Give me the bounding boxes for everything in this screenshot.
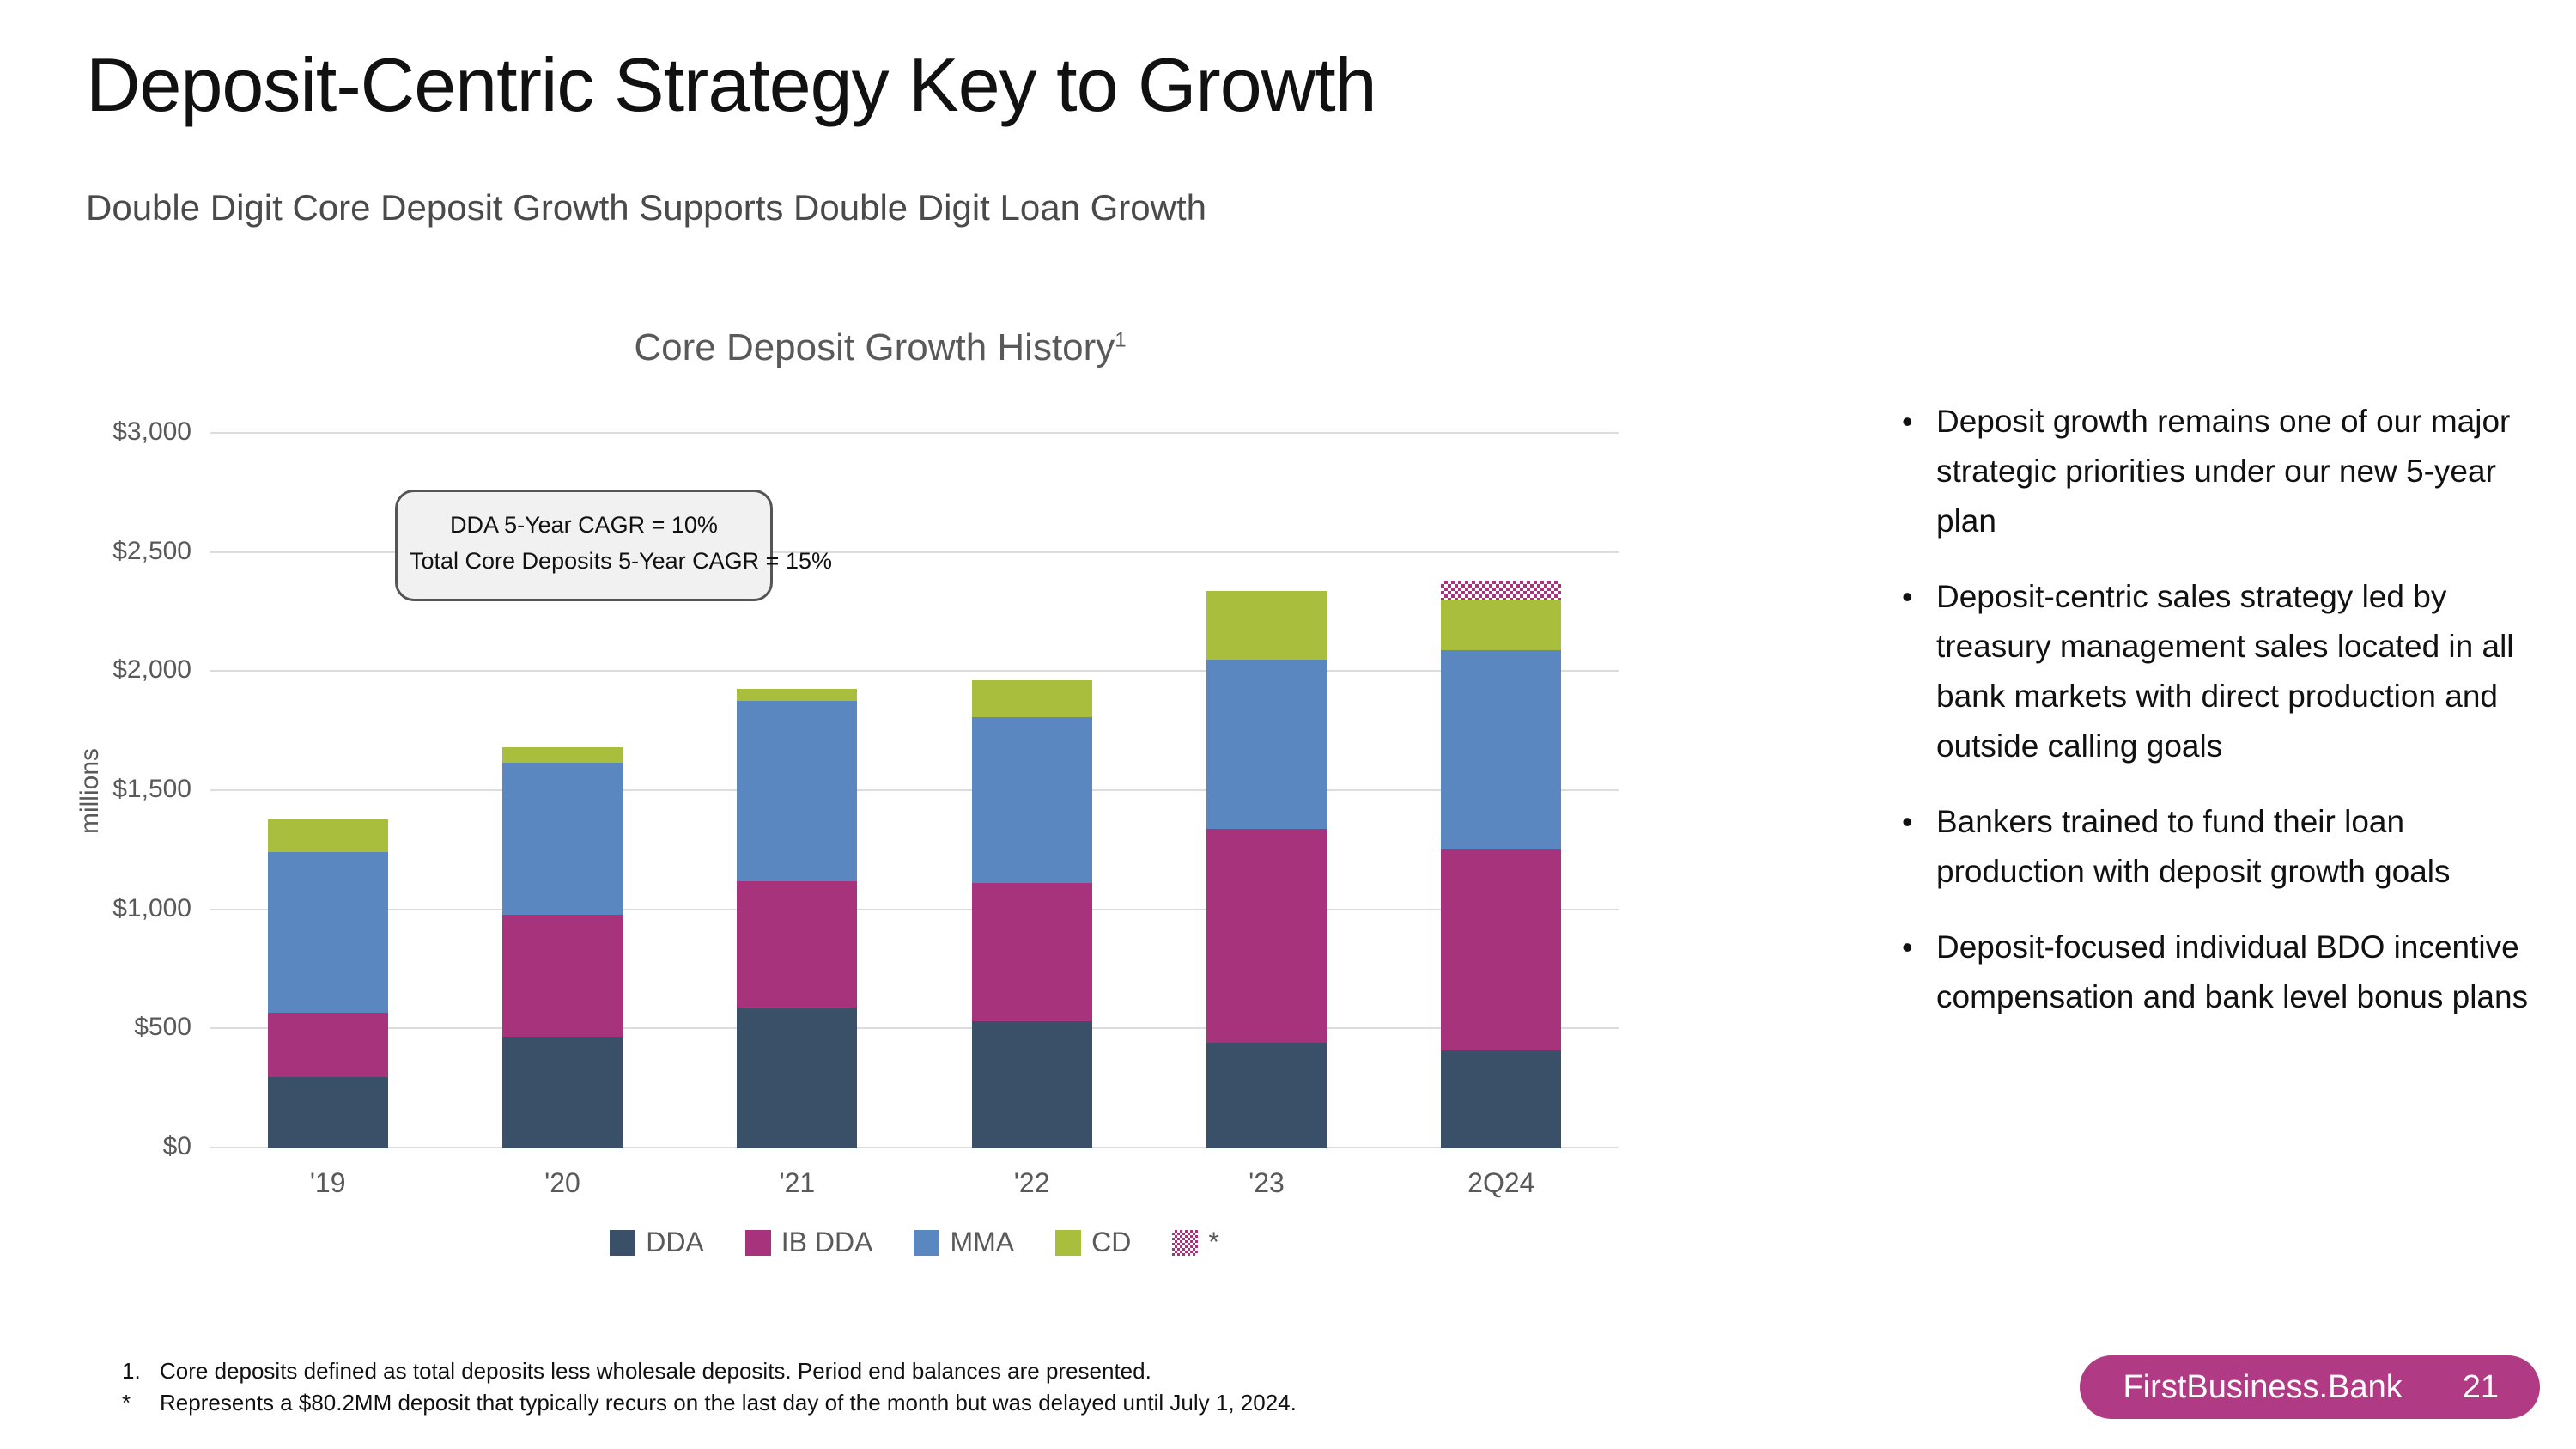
bar-segment-mma[interactable] (268, 852, 388, 1013)
cagr-callout-line-1: DDA 5-Year CAGR = 10% (410, 508, 758, 544)
footnotes: 1.Core deposits defined as total deposit… (122, 1355, 1668, 1419)
bar-segment-[interactable] (1441, 581, 1561, 600)
bar-segment-mma[interactable] (972, 717, 1092, 883)
bar-segment-cd[interactable] (502, 747, 623, 763)
y-axis-tick-label: $2,500 (112, 537, 191, 566)
bar-segment-cd[interactable] (972, 680, 1092, 717)
bar-segment-cd[interactable] (268, 819, 388, 851)
x-axis-tick-label: '20 (445, 1167, 679, 1199)
bar-segment-dda[interactable] (972, 1021, 1092, 1148)
footnote-text: Represents a $80.2MM deposit that typica… (160, 1390, 1297, 1416)
bullet-marker-icon: • (1902, 397, 1936, 546)
bullet-marker-icon: • (1902, 797, 1936, 897)
bar-segment-ib-dda[interactable] (737, 881, 857, 1008)
legend-swatch-icon (610, 1230, 635, 1256)
y-axis-tick-label: $1,000 (112, 894, 191, 923)
bar-segment-cd[interactable] (737, 689, 857, 701)
bar-group: 2Q24 (1384, 434, 1619, 1148)
bullet-marker-icon: • (1902, 922, 1936, 1022)
bar-stack[interactable] (1441, 581, 1561, 1148)
x-axis-tick-label: '23 (1149, 1167, 1383, 1199)
footnote: 1.Core deposits defined as total deposit… (122, 1355, 1668, 1387)
y-axis-tick-label: $2,000 (112, 655, 191, 685)
footnote-marker: 1. (122, 1355, 160, 1387)
bullet-marker-icon: • (1902, 572, 1936, 771)
bar-segment-cd[interactable] (1206, 591, 1327, 660)
chart-legend: DDAIB DDAMMACD* (210, 1227, 1619, 1258)
bar-segment-ib-dda[interactable] (972, 883, 1092, 1021)
list-item: •Bankers trained to fund their loan prod… (1902, 797, 2529, 897)
bar-segment-mma[interactable] (502, 763, 623, 915)
bar-stack[interactable] (502, 747, 623, 1148)
legend-swatch-icon (914, 1230, 939, 1256)
bar-segment-ib-dda[interactable] (1206, 829, 1327, 1042)
list-item: •Deposit-focused individual BDO incentiv… (1902, 922, 2529, 1022)
cagr-callout-line-2: Total Core Deposits 5-Year CAGR = 15% (410, 544, 758, 580)
bar-segment-dda[interactable] (1206, 1043, 1327, 1148)
cagr-callout-box: DDA 5-Year CAGR = 10% Total Core Deposit… (395, 490, 773, 601)
bar-segment-cd[interactable] (1441, 600, 1561, 651)
list-item-text: Deposit growth remains one of our major … (1936, 397, 2529, 546)
x-axis-tick-label: '19 (210, 1167, 445, 1199)
bar-stack[interactable] (1206, 591, 1327, 1148)
bar-segment-mma[interactable] (1441, 650, 1561, 849)
list-item-text: Deposit-centric sales strategy led by tr… (1936, 572, 2529, 771)
bar-stack[interactable] (737, 689, 857, 1148)
bar-segment-mma[interactable] (737, 701, 857, 882)
list-item-text: Deposit-focused individual BDO incentive… (1936, 922, 2529, 1022)
legend-label: IB DDA (781, 1227, 873, 1258)
legend-item[interactable]: * (1172, 1227, 1218, 1258)
page-title: Deposit-Centric Strategy Key to Growth (86, 41, 1376, 129)
x-axis-tick-label: '22 (914, 1167, 1149, 1199)
bar-group: '22 (914, 434, 1149, 1148)
x-axis-tick-label: '21 (680, 1167, 914, 1199)
bar-stack[interactable] (268, 819, 388, 1148)
legend-swatch-icon (1172, 1230, 1198, 1256)
x-axis-tick-label: 2Q24 (1384, 1167, 1619, 1199)
bar-stack[interactable] (972, 680, 1092, 1148)
legend-label: * (1208, 1227, 1218, 1258)
bar-segment-ib-dda[interactable] (502, 915, 623, 1036)
page-number: 21 (2463, 1369, 2499, 1406)
chart-title: Core Deposit Growth History1 (129, 326, 1631, 369)
legend-item[interactable]: DDA (610, 1227, 704, 1258)
bar-segment-mma[interactable] (1206, 660, 1327, 829)
bar-group: '23 (1149, 434, 1383, 1148)
page-subtitle: Double Digit Core Deposit Growth Support… (86, 187, 1206, 228)
bar-segment-dda[interactable] (1441, 1050, 1561, 1148)
chart-title-footnote-marker: 1 (1115, 328, 1126, 351)
bar-segment-ib-dda[interactable] (1441, 849, 1561, 1050)
list-item: •Deposit growth remains one of our major… (1902, 397, 2529, 546)
chart-region: Core Deposit Growth History1 millions $0… (129, 326, 1803, 1288)
legend-swatch-icon (745, 1230, 771, 1256)
legend-label: CD (1091, 1227, 1131, 1258)
y-axis-tick-label: $1,500 (112, 775, 191, 804)
list-item: •Deposit-centric sales strategy led by t… (1902, 572, 2529, 771)
brand-badge: FirstBusiness.Bank 21 (2080, 1355, 2540, 1419)
legend-label: DDA (646, 1227, 704, 1258)
bar-segment-dda[interactable] (268, 1077, 388, 1148)
bullet-list: •Deposit growth remains one of our major… (1902, 397, 2529, 1048)
y-axis-title: millions (76, 748, 105, 834)
y-axis-tick-label: $500 (134, 1013, 191, 1042)
y-axis-tick-label: $0 (163, 1132, 191, 1161)
chart-title-text: Core Deposit Growth History (634, 326, 1115, 368)
list-item-text: Bankers trained to fund their loan produ… (1936, 797, 2529, 897)
legend-item[interactable]: IB DDA (745, 1227, 873, 1258)
brand-name: FirstBusiness.Bank (2123, 1369, 2402, 1406)
legend-label: MMA (950, 1227, 1014, 1258)
bar-segment-dda[interactable] (502, 1037, 623, 1148)
bar-segment-ib-dda[interactable] (268, 1013, 388, 1077)
y-axis-tick-label: $3,000 (112, 417, 191, 447)
legend-swatch-icon (1055, 1230, 1081, 1256)
footnote-marker: * (122, 1387, 160, 1419)
legend-item[interactable]: CD (1055, 1227, 1131, 1258)
footnote: *Represents a $80.2MM deposit that typic… (122, 1387, 1668, 1419)
footnote-text: Core deposits defined as total deposits … (160, 1358, 1151, 1384)
legend-item[interactable]: MMA (914, 1227, 1014, 1258)
bar-segment-dda[interactable] (737, 1008, 857, 1148)
